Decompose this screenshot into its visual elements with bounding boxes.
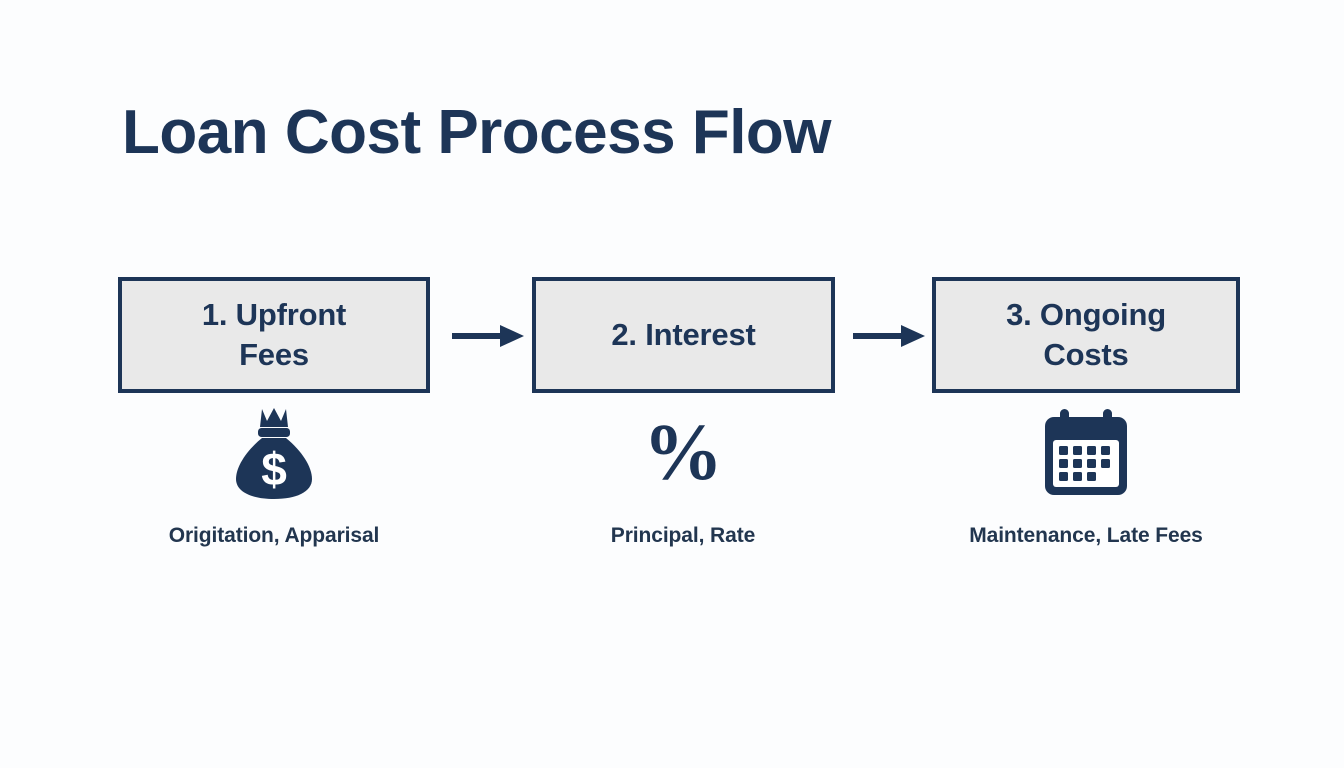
step-box-3-label-line2: Costs bbox=[1043, 337, 1128, 372]
diagram-canvas: Loan Cost Process Flow 1. Upfront Fees 2… bbox=[0, 0, 1344, 768]
step-box-3-ongoing-costs[interactable]: 3. Ongoing Costs bbox=[932, 277, 1240, 393]
step-box-1-label-line1: 1. Upfront bbox=[202, 297, 346, 332]
step-box-2-label-line1: 2. Interest bbox=[611, 317, 755, 352]
arrow-step2-to-step3 bbox=[853, 323, 925, 349]
step-box-1-label-line2: Fees bbox=[239, 337, 309, 372]
detail-column-3: Maintenance, Late Fees bbox=[926, 404, 1246, 548]
money-bag-icon: $ bbox=[232, 404, 316, 502]
step-box-1-label: 1. Upfront Fees bbox=[192, 295, 356, 374]
detail-caption-1: Origitation, Apparisal bbox=[169, 524, 380, 548]
detail-column-1: $ Origitation, Apparisal bbox=[114, 404, 434, 548]
page-title: Loan Cost Process Flow bbox=[122, 100, 831, 165]
percent-icon: % bbox=[643, 404, 723, 502]
step-box-2-interest[interactable]: 2. Interest bbox=[532, 277, 835, 393]
calendar-icon bbox=[1040, 404, 1132, 502]
step-box-3-label: 3. Ongoing Costs bbox=[996, 295, 1176, 374]
step-box-1-upfront-fees[interactable]: 1. Upfront Fees bbox=[118, 277, 430, 393]
svg-text:$: $ bbox=[261, 443, 287, 495]
percent-glyph: % bbox=[643, 413, 723, 493]
process-flow-row: 1. Upfront Fees 2. Interest 3. Ongoing bbox=[0, 277, 1344, 393]
detail-caption-3: Maintenance, Late Fees bbox=[969, 524, 1203, 548]
step-box-3-label-line1: 3. Ongoing bbox=[1006, 297, 1166, 332]
detail-column-2: % Principal, Rate bbox=[523, 404, 843, 548]
step-box-2-label: 2. Interest bbox=[601, 315, 765, 355]
arrow-step1-to-step2 bbox=[452, 323, 524, 349]
detail-caption-2: Principal, Rate bbox=[611, 524, 755, 548]
